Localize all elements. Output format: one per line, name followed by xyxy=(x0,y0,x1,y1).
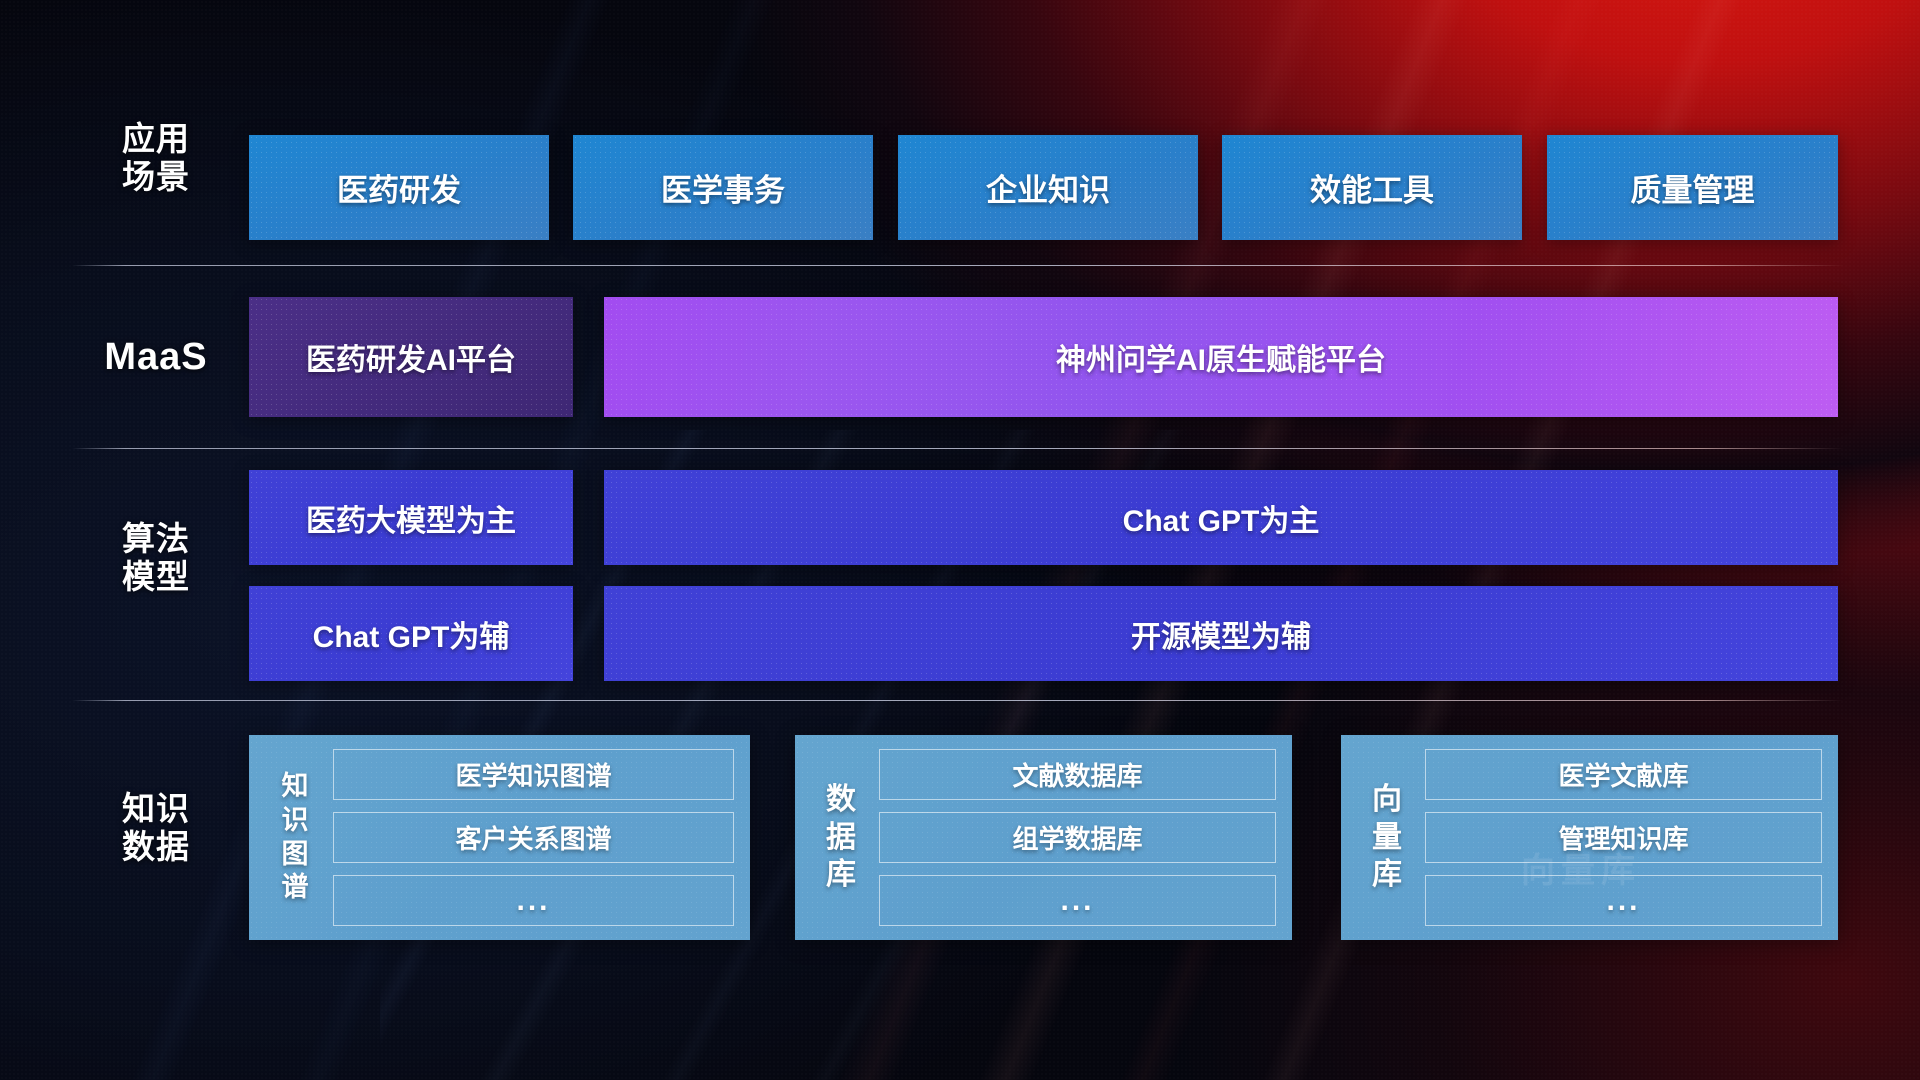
row-label-line-2: 场景 xyxy=(95,158,217,196)
knowledge-item[interactable]: 文献数据库 xyxy=(879,749,1276,800)
row-label-line-2: 数据 xyxy=(95,828,217,866)
knowledge-item[interactable]: 医学文献库 xyxy=(1425,749,1822,800)
vlabel-char: 数 xyxy=(826,781,856,819)
vlabel-char: 识 xyxy=(282,804,309,838)
algo-box-chatgpt-primary[interactable]: Chat GPT为主 xyxy=(604,470,1838,565)
knowledge-panel-graph-items: 医学知识图谱 客户关系图谱 ... xyxy=(333,749,734,926)
algo-box-chatgpt-primary-label: Chat GPT为主 xyxy=(1123,496,1320,540)
row-label-knowledge-data: 知识 数据 xyxy=(95,790,217,867)
algo-box-chatgpt-secondary[interactable]: Chat GPT为辅 xyxy=(249,586,573,681)
vlabel-char: 谱 xyxy=(282,871,309,905)
knowledge-panel-database-vertical-label: 数 据 库 xyxy=(817,735,865,940)
app-box-4[interactable]: 效能工具 xyxy=(1222,135,1522,240)
row-label-maas-text: MaaS xyxy=(95,335,217,379)
maas-box-shenzhou-platform[interactable]: 神州问学AI原生赋能平台 xyxy=(604,297,1838,417)
row-label-maas: MaaS xyxy=(95,335,217,379)
maas-box-shenzhou-platform-label: 神州问学AI原生赋能平台 xyxy=(1056,335,1386,379)
algo-box-opensource-secondary-label: 开源模型为辅 xyxy=(1131,612,1311,656)
app-box-4-label: 效能工具 xyxy=(1310,165,1434,210)
app-box-1[interactable]: 医药研发 xyxy=(249,135,549,240)
row-label-application-scenarios: 应用 场景 xyxy=(95,120,217,197)
maas-box-pharma-platform[interactable]: 医药研发AI平台 xyxy=(249,297,573,417)
knowledge-panel-database[interactable]: 数 据 库 文献数据库 组学数据库 ... xyxy=(795,735,1292,940)
app-box-2-label: 医学事务 xyxy=(661,165,785,210)
row-label-line-1: 应用 xyxy=(95,120,217,158)
app-box-3[interactable]: 企业知识 xyxy=(898,135,1198,240)
divider-1 xyxy=(72,265,1844,266)
vlabel-char: 向 xyxy=(1372,781,1402,819)
vlabel-char: 图 xyxy=(282,838,309,872)
row-label-line-2: 模型 xyxy=(95,558,217,596)
algo-box-opensource-secondary[interactable]: 开源模型为辅 xyxy=(604,586,1838,681)
vlabel-char: 量 xyxy=(1372,819,1402,857)
app-box-3-label: 企业知识 xyxy=(986,165,1110,210)
knowledge-item[interactable]: 组学数据库 xyxy=(879,812,1276,863)
knowledge-panel-vector[interactable]: 向量库 向 量 库 医学文献库 管理知识库 ... xyxy=(1341,735,1838,940)
app-box-5[interactable]: 质量管理 xyxy=(1547,135,1838,240)
slide-canvas: 应用 场景 医药研发 医学事务 企业知识 效能工具 质量管理 MaaS 医药研发… xyxy=(0,0,1920,1080)
knowledge-item[interactable]: 管理知识库 xyxy=(1425,812,1822,863)
knowledge-panel-vector-items: 医学文献库 管理知识库 ... xyxy=(1425,749,1822,926)
vlabel-char: 库 xyxy=(1372,856,1402,894)
divider-3 xyxy=(72,700,1844,701)
row-label-line-1: 算法 xyxy=(95,520,217,558)
row-label-line-1: 知识 xyxy=(95,790,217,828)
knowledge-panel-graph[interactable]: 知 识 图 谱 医学知识图谱 客户关系图谱 ... xyxy=(249,735,750,940)
app-box-2[interactable]: 医学事务 xyxy=(573,135,873,240)
algo-box-pharma-primary-label: 医药大模型为主 xyxy=(306,496,516,540)
vlabel-char: 据 xyxy=(826,819,856,857)
maas-box-pharma-platform-label: 医药研发AI平台 xyxy=(306,335,516,379)
app-box-5-label: 质量管理 xyxy=(1631,165,1755,210)
vlabel-char: 库 xyxy=(826,856,856,894)
app-box-1-label: 医药研发 xyxy=(337,165,461,210)
algo-box-pharma-primary[interactable]: 医药大模型为主 xyxy=(249,470,573,565)
knowledge-item-more[interactable]: ... xyxy=(1425,875,1822,926)
knowledge-item-more[interactable]: ... xyxy=(879,875,1276,926)
knowledge-item[interactable]: 医学知识图谱 xyxy=(333,749,734,800)
algo-box-chatgpt-secondary-label: Chat GPT为辅 xyxy=(313,612,510,656)
row-label-algorithm-model: 算法 模型 xyxy=(95,520,217,597)
vlabel-char: 知 xyxy=(282,770,309,804)
knowledge-panel-vector-vertical-label: 向 量 库 xyxy=(1363,735,1411,940)
knowledge-item-more[interactable]: ... xyxy=(333,875,734,926)
divider-2 xyxy=(72,448,1844,449)
knowledge-panel-database-items: 文献数据库 组学数据库 ... xyxy=(879,749,1276,926)
knowledge-panel-graph-vertical-label: 知 识 图 谱 xyxy=(271,735,319,940)
knowledge-item[interactable]: 客户关系图谱 xyxy=(333,812,734,863)
